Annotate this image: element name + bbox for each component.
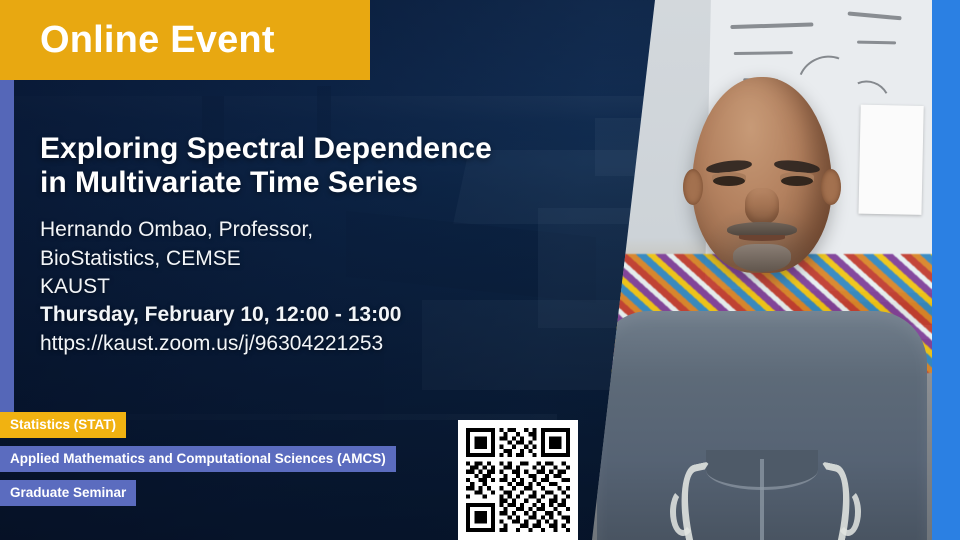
event-datetime: Thursday, February 10, 12:00 - 13:00 — [40, 301, 620, 329]
shirt-zipper — [760, 459, 764, 540]
tag-graduate-seminar[interactable]: Graduate Seminar — [0, 480, 136, 506]
qr-code-icon — [466, 428, 570, 532]
event-details: Exploring Spectral Dependence in Multiva… — [40, 132, 620, 358]
left-accent-strip — [0, 80, 14, 432]
speaker-affiliation: BioStatistics, CEMSE — [40, 245, 620, 273]
online-event-banner: Online Event — [0, 0, 370, 80]
qr-code-card[interactable] — [458, 420, 578, 540]
whiteboard-writing — [730, 23, 813, 30]
shirt-embroidery — [835, 488, 861, 536]
speaker-name: Hernando Ombao, Professor, — [40, 216, 620, 244]
event-zoom-link[interactable]: https://kaust.zoom.us/j/96304221253 — [40, 330, 620, 358]
ear — [821, 169, 841, 205]
event-title: Exploring Spectral Dependence in Multiva… — [40, 132, 620, 200]
whiteboard-writing — [847, 12, 901, 21]
event-meta: Hernando Ombao, Professor, BioStatistics… — [40, 216, 620, 358]
eye — [713, 176, 745, 186]
speaker-institution: KAUST — [40, 273, 620, 301]
tag-statistics[interactable]: Statistics (STAT) — [0, 412, 126, 438]
event-title-line1: Exploring Spectral Dependence — [40, 132, 492, 165]
mouth — [739, 235, 785, 241]
event-title-line2: in Multivariate Time Series — [40, 166, 620, 200]
eye — [781, 176, 813, 186]
shirt-embroidery — [670, 488, 696, 536]
ear — [683, 169, 703, 205]
whiteboard-paper — [858, 105, 924, 215]
tag-amcs[interactable]: Applied Mathematics and Computational Sc… — [0, 446, 396, 472]
speaker-torso — [597, 311, 927, 540]
whiteboard-writing — [856, 41, 895, 45]
event-poster: Online Event Exploring Spectral Dependen… — [0, 0, 960, 540]
category-tags: Statistics (STAT) Applied Mathematics an… — [0, 412, 396, 514]
goatee — [733, 244, 791, 272]
whiteboard-writing — [734, 51, 793, 55]
banner-label: Online Event — [0, 19, 275, 62]
